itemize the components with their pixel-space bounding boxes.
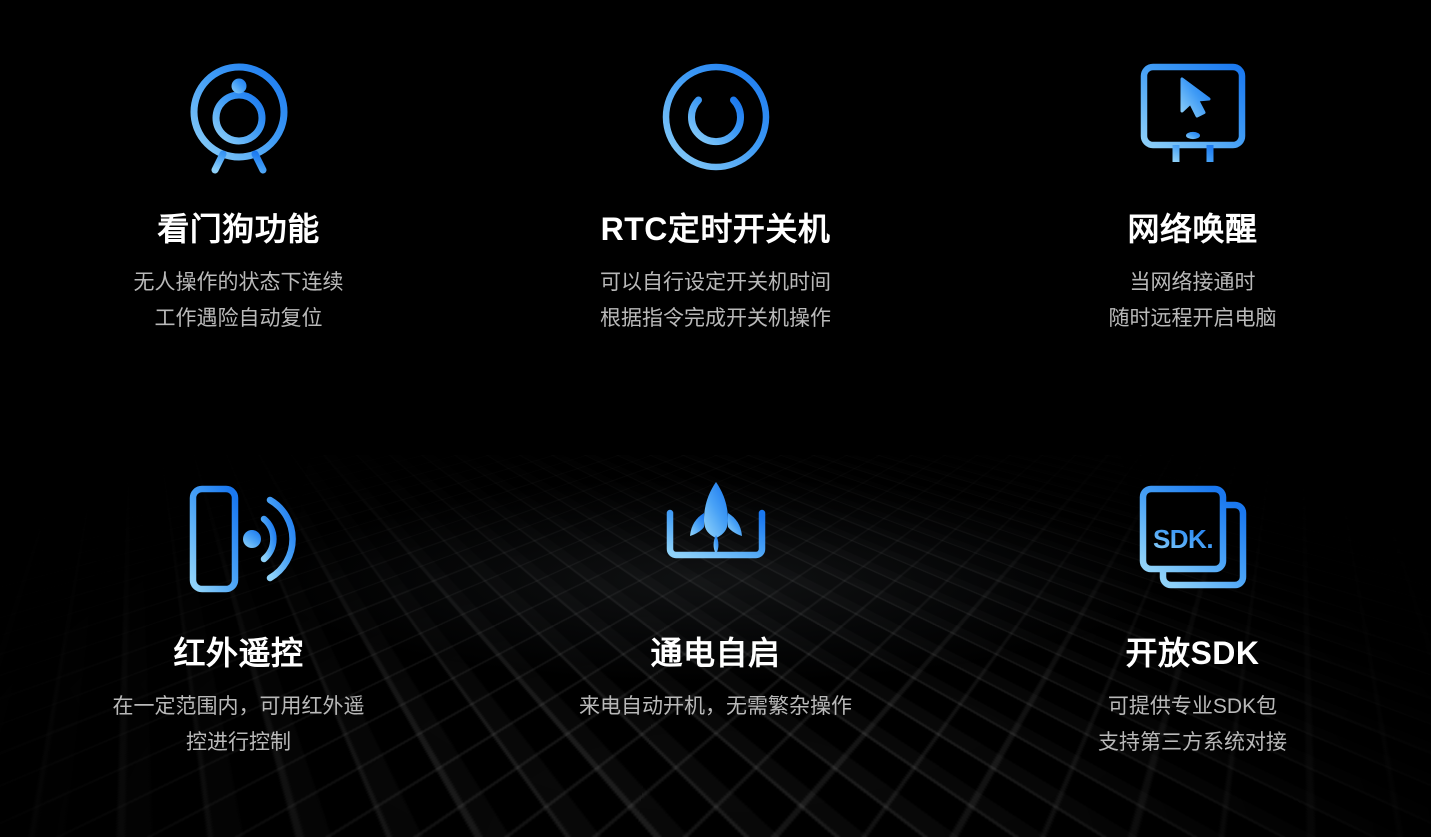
feature-title: 通电自启 [650, 637, 780, 669]
feature-showcase-page: 看门狗功能 无人操作的状态下连续 工作遇险自动复位 RTC定时开关机 可以自行设… [0, 0, 1431, 837]
feature-title: 网络唤醒 [1127, 213, 1257, 245]
feature-description: 在一定范围内，可用红外遥 控进行控制 [113, 689, 365, 761]
description-line: 可提供专业SDK包 [1098, 689, 1287, 725]
feature-card-auto-power-on[interactable]: 通电自启 来电自动开机，无需繁杂操作 [477, 418, 954, 837]
description-line: 当网络接通时 [1109, 265, 1277, 301]
description-line: 根据指令完成开关机操作 [600, 301, 831, 337]
sdk-icon-label: SDK. [1152, 524, 1212, 554]
description-line: 可以自行设定开关机时间 [600, 265, 831, 301]
feature-card-wake-on-lan[interactable]: 网络唤醒 当网络接通时 随时远程开启电脑 [954, 0, 1431, 418]
feature-card-rtc-power[interactable]: RTC定时开关机 可以自行设定开关机时间 根据指令完成开关机操作 [477, 0, 954, 418]
sdk-windows-icon: SDK. [1129, 478, 1257, 600]
feature-description: 来电自动开机，无需繁杂操作 [579, 689, 852, 725]
description-line: 在一定范围内，可用红外遥 [113, 689, 365, 725]
infrared-remote-icon [175, 478, 303, 600]
feature-title: 开放SDK [1125, 637, 1259, 669]
feature-card-watchdog[interactable]: 看门狗功能 无人操作的状态下连续 工作遇险自动复位 [0, 0, 477, 418]
description-line: 支持第三方系统对接 [1098, 725, 1287, 761]
feature-description: 当网络接通时 随时远程开启电脑 [1109, 265, 1277, 337]
feature-title: RTC定时开关机 [601, 213, 831, 245]
description-line: 来电自动开机，无需繁杂操作 [579, 689, 852, 725]
feature-description: 无人操作的状态下连续 工作遇险自动复位 [134, 265, 344, 337]
feature-description: 可以自行设定开关机时间 根据指令完成开关机操作 [600, 265, 831, 337]
feature-card-open-sdk[interactable]: SDK. 开放SDK 可提供专业SDK包 支持第三方系统对接 [954, 418, 1431, 837]
feature-description: 可提供专业SDK包 支持第三方系统对接 [1098, 689, 1287, 761]
feature-card-infrared-remote[interactable]: 红外遥控 在一定范围内，可用红外遥 控进行控制 [0, 418, 477, 837]
webcam-watchdog-icon [175, 56, 303, 178]
description-line: 随时远程开启电脑 [1109, 301, 1277, 337]
feature-title: 红外遥控 [173, 637, 303, 669]
description-line: 无人操作的状态下连续 [134, 265, 344, 301]
power-button-icon [652, 56, 780, 178]
feature-title: 看门狗功能 [157, 213, 320, 245]
description-line: 工作遇险自动复位 [134, 301, 344, 337]
monitor-rocket-icon [652, 478, 780, 600]
description-line: 控进行控制 [113, 725, 365, 761]
monitor-cursor-icon [1129, 56, 1257, 178]
feature-grid: 看门狗功能 无人操作的状态下连续 工作遇险自动复位 RTC定时开关机 可以自行设… [0, 0, 1431, 837]
